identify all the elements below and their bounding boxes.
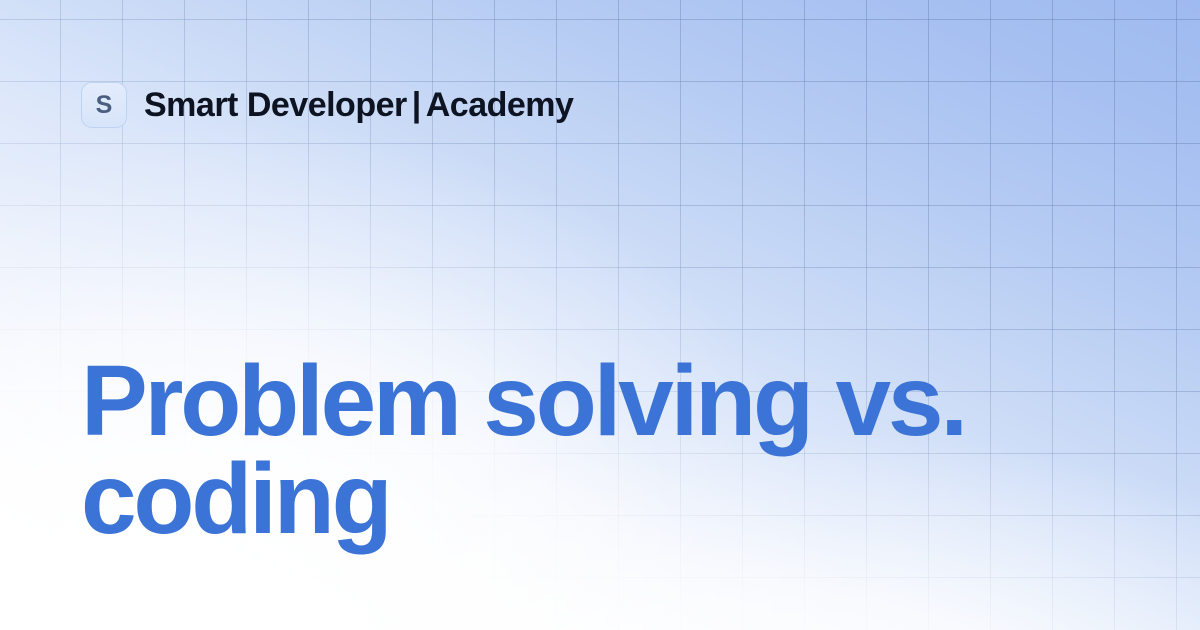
page-title-line-1: Problem solving vs.: [81, 345, 965, 457]
brand-name: Smart Developer|Academy: [144, 82, 573, 128]
brand-name-secondary: Academy: [426, 86, 574, 124]
page-title: Problem solving vs. coding: [81, 352, 1041, 548]
page-title-line-2: coding: [81, 443, 390, 555]
brand-lockup: S Smart Developer|Academy: [81, 82, 573, 128]
og-card-canvas: S Smart Developer|Academy Problem solvin…: [0, 0, 1200, 630]
card-content: S Smart Developer|Academy Problem solvin…: [0, 0, 1200, 630]
brand-name-separator: |: [407, 86, 426, 124]
brand-logo-badge: S: [81, 82, 127, 128]
brand-name-primary: Smart Developer: [144, 86, 407, 124]
